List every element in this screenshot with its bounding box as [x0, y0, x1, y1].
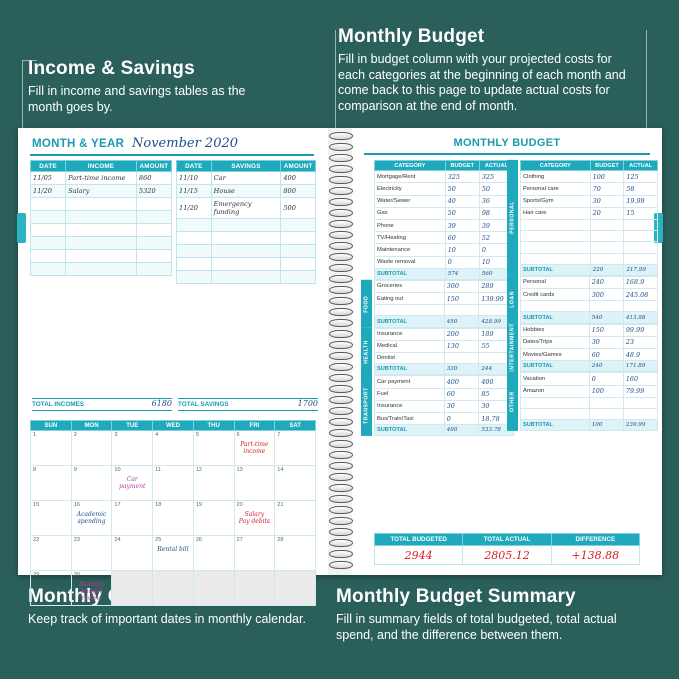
calendar-day-note[interactable]: Rental bill	[155, 546, 191, 553]
budget-category[interactable]: Gas	[375, 207, 446, 219]
table-cell[interactable]: 11/15	[177, 185, 212, 198]
budget-category[interactable]	[375, 305, 445, 316]
calendar-day-cell[interactable]: 12	[193, 466, 234, 501]
calendar-week: 8910Carpayment11121314	[31, 466, 316, 501]
budget-category[interactable]: Groceries	[375, 280, 445, 292]
calendar-day-cell[interactable]: 6Part-timeincome	[234, 431, 275, 466]
budget-category[interactable]: TV/Heating	[375, 232, 446, 244]
calendar-day-cell[interactable]: 18	[153, 501, 194, 536]
income-table-body: 11/05Part-time income86011/20Salary5320	[31, 172, 172, 276]
budget-category[interactable]	[521, 408, 590, 419]
budget-category[interactable]: Dates/Trips	[521, 336, 590, 348]
calendar-day-cell[interactable]: 30Monthlybudgetreview	[71, 571, 112, 606]
calendar-day-cell[interactable]: 13	[234, 466, 275, 501]
budget-row[interactable]: Mortgage/Rent325325	[375, 171, 514, 183]
summary-values: 29442805.12+138.88	[375, 546, 640, 565]
actual-amount[interactable]	[624, 253, 658, 264]
budget-row[interactable]	[521, 397, 658, 408]
table-cell[interactable]	[177, 245, 212, 258]
budget-row[interactable]: Car payment400400	[375, 376, 514, 388]
calendar-day-cell[interactable]	[112, 571, 153, 606]
budget-row[interactable]: Phone3939	[375, 219, 514, 231]
calendar-day-cell[interactable]: 7	[275, 431, 316, 466]
actual-amount[interactable]: 168.9	[623, 276, 657, 288]
budget-category[interactable]: Hair care	[521, 207, 591, 219]
budget-row[interactable]: Credit cards300245.08	[521, 289, 658, 301]
spiral-ring	[328, 319, 352, 326]
budget-category[interactable]: Vacation	[521, 373, 590, 385]
calendar-body: 123456Part-timeincome78910Carpayment1112…	[31, 431, 316, 606]
table-cell[interactable]	[281, 245, 316, 258]
left-page: MONTH & YEAR November 2020 DATEINCOMEAMO…	[18, 128, 328, 575]
table-row[interactable]	[31, 263, 172, 276]
calendar-day-number: 27	[237, 537, 243, 543]
table-row[interactable]	[177, 258, 316, 271]
budget-category[interactable]: Mortgage/Rent	[375, 171, 446, 183]
subtotal-label: SUBTOTAL	[521, 264, 591, 275]
budget-amount[interactable]	[590, 253, 624, 264]
budget-amount[interactable]: 150	[444, 293, 479, 305]
total-incomes-label: TOTAL INCOMES	[32, 401, 84, 408]
budget-amount[interactable]: 30	[590, 195, 624, 207]
calendar-day-note[interactable]: SalaryPay debits	[237, 511, 273, 525]
table-cell[interactable]: 5320	[136, 185, 171, 198]
budget-category[interactable]: Eating out	[375, 293, 445, 305]
calendar-day-number: 30	[74, 572, 80, 578]
table-cell[interactable]: Emergency funding	[211, 198, 281, 219]
calendar-day-cell[interactable]: 5	[193, 431, 234, 466]
budget-row[interactable]: Clothing100125	[521, 171, 658, 183]
budget-row[interactable]: Eating out150139.99	[375, 293, 514, 305]
budget-category[interactable]: Insurance	[375, 328, 445, 340]
budget-category[interactable]: Insurance	[375, 400, 445, 412]
calendar-day-number: 1	[33, 432, 36, 438]
table-row[interactable]	[177, 219, 316, 232]
actual-amount[interactable]: 48.9	[623, 349, 657, 361]
calendar-day-cell[interactable]	[193, 571, 234, 606]
table-cell[interactable]	[31, 211, 66, 224]
budget-amount[interactable]: 0	[589, 373, 623, 385]
actual-amount[interactable]	[624, 219, 658, 230]
table-cell[interactable]	[136, 237, 171, 250]
col-header: INCOME	[66, 161, 137, 172]
subtotal-budget: 330	[444, 364, 479, 375]
budget-row[interactable]: Electricity5050	[375, 183, 514, 195]
table-cell[interactable]	[136, 250, 171, 263]
budget-row[interactable]: Insurance3030	[375, 400, 514, 412]
budget-amount[interactable]: 300	[444, 280, 479, 292]
budget-subtotal-row: SUBTOTAL540413.98	[521, 312, 658, 323]
budget-category[interactable]: Waste removal	[375, 256, 446, 268]
table-cell[interactable]: 400	[281, 172, 316, 185]
budget-row[interactable]: Hobbies15099.99	[521, 324, 658, 336]
calendar-day-cell[interactable]	[275, 571, 316, 606]
planner-spread: MONTH & YEAR November 2020 DATEINCOMEAMO…	[18, 128, 662, 575]
budget-amount[interactable]: 50	[445, 183, 479, 195]
budget-category[interactable]: Personal	[521, 276, 590, 288]
callout-income-title: Income & Savings	[28, 58, 278, 80]
subtotal-label: SUBTOTAL	[375, 316, 445, 327]
budget-section-tab: PERSONAL	[507, 160, 518, 276]
budget-amount[interactable]	[589, 301, 623, 312]
budget-col-header: CATEGORY	[375, 161, 446, 171]
budget-row[interactable]: Fuel6085	[375, 388, 514, 400]
budget-amount[interactable]	[590, 242, 624, 253]
right-page: MONTHLY BUDGET CATEGORYBUDGETACTUALMortg…	[352, 128, 662, 575]
difference-value[interactable]: +138.88	[551, 546, 639, 565]
budget-amount[interactable]: 30	[589, 336, 623, 348]
summary-header: TOTAL BUDGETEDTOTAL ACTUALDIFFERENCE	[375, 534, 640, 546]
budget-row[interactable]: Dates/Trips3023	[521, 336, 658, 348]
subtotal-budget: 574	[445, 268, 479, 279]
table-cell[interactable]: 800	[281, 185, 316, 198]
spiral-ring	[328, 264, 352, 271]
calendar-weekday-header: SUNMONTUEWEDTHUFRISAT	[31, 421, 316, 431]
calendar-day-cell[interactable]: 3	[112, 431, 153, 466]
budget-row[interactable]	[521, 253, 658, 264]
table-cell[interactable]	[31, 224, 66, 237]
table-cell[interactable]: Car	[211, 172, 281, 185]
budget-category[interactable]: Dentist	[375, 353, 445, 364]
budget-row[interactable]: TV/Heating6052	[375, 232, 514, 244]
table-cell[interactable]	[31, 198, 66, 211]
budget-category[interactable]: Amazon	[521, 385, 590, 397]
callout-summary-title: Monthly Budget Summary	[336, 586, 656, 608]
calendar-day-cell[interactable]: 2	[71, 431, 112, 466]
budget-row[interactable]	[375, 305, 514, 316]
actual-amount[interactable]: 58	[624, 183, 658, 195]
budget-subtotal-row: SUBTOTAL574560	[375, 268, 514, 279]
budget-category[interactable]: Credit cards	[521, 289, 590, 301]
subtotal-label: SUBTOTAL	[375, 425, 445, 436]
spiral-ring	[328, 528, 352, 535]
calendar-weekday: TUE	[112, 421, 153, 431]
table-cell[interactable]	[281, 271, 316, 284]
budget-row[interactable]: Sports/Gym3019.99	[521, 195, 658, 207]
table-row[interactable]	[177, 245, 316, 258]
table-cell[interactable]	[66, 250, 137, 263]
budget-amount[interactable]: 0	[445, 256, 479, 268]
calendar-day-cell[interactable]: 17	[112, 501, 153, 536]
budget-row[interactable]	[521, 301, 658, 312]
budget-amount[interactable]: 200	[444, 328, 479, 340]
calendar-day-cell[interactable]: 27	[234, 536, 275, 571]
budget-group: Vacation0160Amazon10079.99SUBTOTAL100239…	[520, 372, 658, 431]
budget-category[interactable]: Sports/Gym	[521, 195, 591, 207]
budget-row[interactable]: Amazon10079.99	[521, 385, 658, 397]
actual-amount[interactable]	[623, 301, 657, 312]
budget-row[interactable]: Gas5098	[375, 207, 514, 219]
budget-row[interactable]: Water/Sewer4036	[375, 195, 514, 207]
calendar-day-number: 15	[33, 502, 39, 508]
budget-group: CATEGORYBUDGETACTUALMortgage/Rent325325E…	[374, 160, 514, 280]
budget-row[interactable]: Vacation0160	[521, 373, 658, 385]
budget-amount[interactable]: 60	[589, 349, 623, 361]
table-cell[interactable]: Part-time income	[66, 172, 137, 185]
calendar-day-number: 17	[114, 502, 120, 508]
actual-amount[interactable]: 23	[623, 336, 657, 348]
total-savings-label: TOTAL SAVINGS	[178, 401, 229, 408]
table-cell[interactable]: 11/20	[177, 198, 212, 219]
monthly-budget-title-bold: BUDGET	[512, 137, 560, 149]
budget-category[interactable]: Fuel	[375, 388, 445, 400]
budget-category[interactable]	[521, 397, 590, 408]
actual-amount[interactable]	[623, 397, 657, 408]
table-cell[interactable]	[177, 219, 212, 232]
total-actual-value[interactable]: 2805.12	[463, 546, 551, 565]
table-cell[interactable]	[281, 258, 316, 271]
calendar-day-note[interactable]: Academicspending	[74, 511, 110, 525]
table-cell[interactable]	[31, 263, 66, 276]
budget-amount[interactable]	[589, 397, 623, 408]
budget-category[interactable]	[521, 219, 591, 230]
budget-category[interactable]: Phone	[375, 219, 446, 231]
table-cell[interactable]	[136, 263, 171, 276]
table-cell[interactable]	[281, 232, 316, 245]
budget-category[interactable]	[521, 301, 590, 312]
budget-row[interactable]	[521, 219, 658, 230]
calendar-day-cell[interactable]	[234, 571, 275, 606]
subtotal-actual: 171.89	[623, 361, 657, 372]
budget-amount[interactable]: 50	[445, 207, 479, 219]
subtotal-budget: 450	[444, 316, 479, 327]
budget-category[interactable]: Personal care	[521, 183, 591, 195]
budget-row[interactable]: Movies/Games6048.9	[521, 349, 658, 361]
budget-amount[interactable]: 20	[590, 207, 624, 219]
table-cell[interactable]	[281, 219, 316, 232]
spiral-ring	[328, 165, 352, 172]
calendar-day-cell[interactable]: 20SalaryPay debits	[234, 501, 275, 536]
calendar-day-note[interactable]: Part-timeincome	[237, 441, 273, 455]
budget-amount[interactable]: 400	[444, 376, 479, 388]
budget-amount[interactable]: 240	[589, 276, 623, 288]
savings-table-body: 11/10Car40011/15House80011/20Emergency f…	[177, 172, 316, 284]
budget-category[interactable]: Water/Sewer	[375, 195, 446, 207]
calendar-day-number: 19	[196, 502, 202, 508]
table-cell[interactable]	[136, 198, 171, 211]
calendar-day-cell[interactable]: 26	[193, 536, 234, 571]
table-row[interactable]	[31, 224, 172, 237]
table-row[interactable]: 11/15House800	[177, 185, 316, 198]
table-row[interactable]	[31, 237, 172, 250]
table-cell[interactable]	[211, 245, 281, 258]
calendar-day-cell[interactable]: 25Rental bill	[153, 536, 194, 571]
budget-category[interactable]: Maintenance	[375, 244, 446, 256]
budget-amount[interactable]: 325	[445, 171, 479, 183]
budget-amount[interactable]: 300	[589, 289, 623, 301]
spiral-ring	[328, 198, 352, 205]
table-cell[interactable]: House	[211, 185, 281, 198]
budget-amount[interactable]	[444, 353, 479, 364]
table-cell[interactable]: Salary	[66, 185, 137, 198]
table-row[interactable]: 11/05Part-time income860	[31, 172, 172, 185]
actual-amount[interactable]: 125	[624, 171, 658, 183]
budget-category[interactable]: Hobbies	[521, 324, 590, 336]
table-cell[interactable]	[211, 258, 281, 271]
budget-row[interactable]: Groceries300289	[375, 280, 514, 292]
calendar-day-cell[interactable]: 11	[153, 466, 194, 501]
spiral-ring	[328, 341, 352, 348]
calendar-day-cell[interactable]: 28	[275, 536, 316, 571]
actual-amount[interactable]: 99.99	[623, 324, 657, 336]
calendar-day-note[interactable]: Monthlybudgetreview	[74, 581, 110, 602]
budget-section-tab: OTHER	[507, 372, 518, 431]
total-savings-value: 1700	[298, 399, 318, 408]
budget-category[interactable]	[521, 231, 591, 242]
calendar-day-number: 9	[74, 467, 77, 473]
table-cell[interactable]	[177, 258, 212, 271]
calendar-day-cell[interactable]: 24	[112, 536, 153, 571]
calendar-day-cell[interactable]: 19	[193, 501, 234, 536]
budget-amount[interactable]	[444, 305, 479, 316]
actual-amount[interactable]: 79.99	[623, 385, 657, 397]
budget-category[interactable]: Medical	[375, 340, 445, 352]
budget-amount[interactable]: 100	[589, 385, 623, 397]
table-cell[interactable]	[177, 232, 212, 245]
budget-amount[interactable]: 39	[445, 219, 479, 231]
col-header: DATE	[177, 161, 212, 172]
table-cell[interactable]	[66, 211, 137, 224]
budget-amount[interactable]: 100	[590, 171, 624, 183]
table-cell[interactable]	[136, 211, 171, 224]
calendar-day-cell[interactable]: 21	[275, 501, 316, 536]
budget-category[interactable]: Bus/Train/Taxi	[375, 412, 445, 424]
actual-amount[interactable]: 19.99	[624, 195, 658, 207]
actual-amount[interactable]	[623, 408, 657, 419]
subtotal-actual: 217.99	[624, 264, 658, 275]
table-cell[interactable]	[31, 250, 66, 263]
budget-column-left: CATEGORYBUDGETACTUALMortgage/Rent325325E…	[374, 160, 514, 436]
spiral-ring	[328, 286, 352, 293]
table-cell[interactable]	[66, 237, 137, 250]
calendar-day-cell[interactable]: 8	[31, 466, 72, 501]
budget-row[interactable]	[521, 408, 658, 419]
budget-category[interactable]: Electricity	[375, 183, 446, 195]
table-row[interactable]: 11/10Car400	[177, 172, 316, 185]
budget-section-tab: ENTERTAINMENT	[507, 324, 518, 373]
table-row[interactable]: 11/20Emergency funding500	[177, 198, 316, 219]
budget-row[interactable]: Personal care7058	[521, 183, 658, 195]
budget-row[interactable]: Maintenance100	[375, 244, 514, 256]
budget-row[interactable]: Hair care2015	[521, 207, 658, 219]
calendar-day-cell[interactable]: 29	[31, 571, 72, 606]
budget-category[interactable]: Movies/Games	[521, 349, 590, 361]
budget-row[interactable]: Bus/Train/Taxi018.78	[375, 412, 514, 424]
budget-row[interactable]	[521, 231, 658, 242]
table-row[interactable]	[177, 271, 316, 284]
table-row[interactable]: 11/20Salary5320	[31, 185, 172, 198]
calendar-day-cell[interactable]: 15	[31, 501, 72, 536]
table-cell[interactable]	[66, 263, 137, 276]
table-row[interactable]	[31, 198, 172, 211]
calendar-day-cell[interactable]: 1	[31, 431, 72, 466]
actual-amount[interactable]	[624, 231, 658, 242]
calendar-day-cell[interactable]: 9	[71, 466, 112, 501]
actual-amount[interactable]	[624, 242, 658, 253]
total-savings-row: TOTAL SAVINGS 1700	[178, 398, 318, 411]
total-budgeted-value[interactable]: 2944	[375, 546, 463, 565]
table-cell[interactable]	[177, 271, 212, 284]
monthly-calendar-grid: SUNMONTUEWEDTHUFRISAT 123456Part-timeinc…	[30, 420, 316, 606]
calendar-day-cell[interactable]	[153, 571, 194, 606]
budget-amount[interactable]: 30	[444, 400, 479, 412]
actual-amount[interactable]: 160	[623, 373, 657, 385]
total-incomes-value: 6180	[152, 399, 172, 408]
budget-amount[interactable]: 10	[445, 244, 479, 256]
table-cell[interactable]: 11/10	[177, 172, 212, 185]
calendar-day-cell[interactable]: 16Academicspending	[71, 501, 112, 536]
calendar-day-cell[interactable]: 23	[71, 536, 112, 571]
callout-monthly-budget: Monthly Budget Fill in budget column wit…	[338, 26, 638, 114]
table-cell[interactable]	[66, 224, 137, 237]
budget-category[interactable]: Clothing	[521, 171, 591, 183]
table-cell[interactable]	[211, 219, 281, 232]
budget-amount[interactable]	[589, 408, 623, 419]
budget-row[interactable]: Insurance200189	[375, 328, 514, 340]
budget-amount[interactable]: 0	[444, 412, 479, 424]
table-row[interactable]	[31, 250, 172, 263]
spiral-ring	[328, 209, 352, 216]
table-cell[interactable]	[211, 232, 281, 245]
calendar-day-cell[interactable]: 14	[275, 466, 316, 501]
budget-amount[interactable]: 60	[444, 388, 479, 400]
table-cell[interactable]	[136, 224, 171, 237]
spiral-ring	[328, 473, 352, 480]
spiral-ring	[328, 132, 352, 139]
calendar-day-note[interactable]: Carpayment	[114, 476, 150, 490]
budget-amount[interactable]: 150	[589, 324, 623, 336]
table-cell[interactable]: 11/20	[31, 185, 66, 198]
budget-category[interactable]	[521, 242, 591, 253]
budget-row[interactable]: Medical13055	[375, 340, 514, 352]
budget-amount[interactable]: 40	[445, 195, 479, 207]
table-cell[interactable]	[211, 271, 281, 284]
table-cell[interactable]: 500	[281, 198, 316, 219]
budget-amount[interactable]	[590, 231, 624, 242]
budget-subtotal-row: SUBTOTAL100239.99	[521, 420, 658, 431]
calendar-day-cell[interactable]: 4	[153, 431, 194, 466]
spiral-ring	[328, 561, 352, 568]
table-cell[interactable]: 860	[136, 172, 171, 185]
budget-amount[interactable]: 60	[445, 232, 479, 244]
income-table: DATEINCOMEAMOUNT 11/05Part-time income86…	[30, 160, 172, 276]
budget-amount[interactable]: 130	[444, 340, 479, 352]
table-row[interactable]	[31, 211, 172, 224]
budget-category[interactable]	[521, 253, 591, 264]
actual-amount[interactable]: 15	[624, 207, 658, 219]
budget-amount[interactable]: 70	[590, 183, 624, 195]
table-row[interactable]	[177, 232, 316, 245]
col-header: DATE	[31, 161, 66, 172]
calendar-day-cell[interactable]: 10Carpayment	[112, 466, 153, 501]
total-incomes-row: TOTAL INCOMES 6180	[32, 398, 172, 411]
budget-row[interactable]: Waste removal010	[375, 256, 514, 268]
budget-row[interactable]: Personal240168.9	[521, 276, 658, 288]
table-cell[interactable]: 11/05	[31, 172, 66, 185]
table-cell[interactable]	[66, 198, 137, 211]
budget-row[interactable]	[521, 242, 658, 253]
savings-table: DATESAVINGSAMOUNT 11/10Car40011/15House8…	[176, 160, 316, 284]
table-cell[interactable]	[31, 237, 66, 250]
spiral-ring	[328, 275, 352, 282]
budget-amount[interactable]	[590, 219, 624, 230]
actual-amount[interactable]: 245.08	[623, 289, 657, 301]
budget-category[interactable]: Car payment	[375, 376, 445, 388]
budget-subtotal-row: SUBTOTAL220217.99	[521, 264, 658, 275]
budget-row[interactable]: Dentist	[375, 353, 514, 364]
calendar-day-cell[interactable]: 22	[31, 536, 72, 571]
col-header: SAVINGS	[211, 161, 281, 172]
